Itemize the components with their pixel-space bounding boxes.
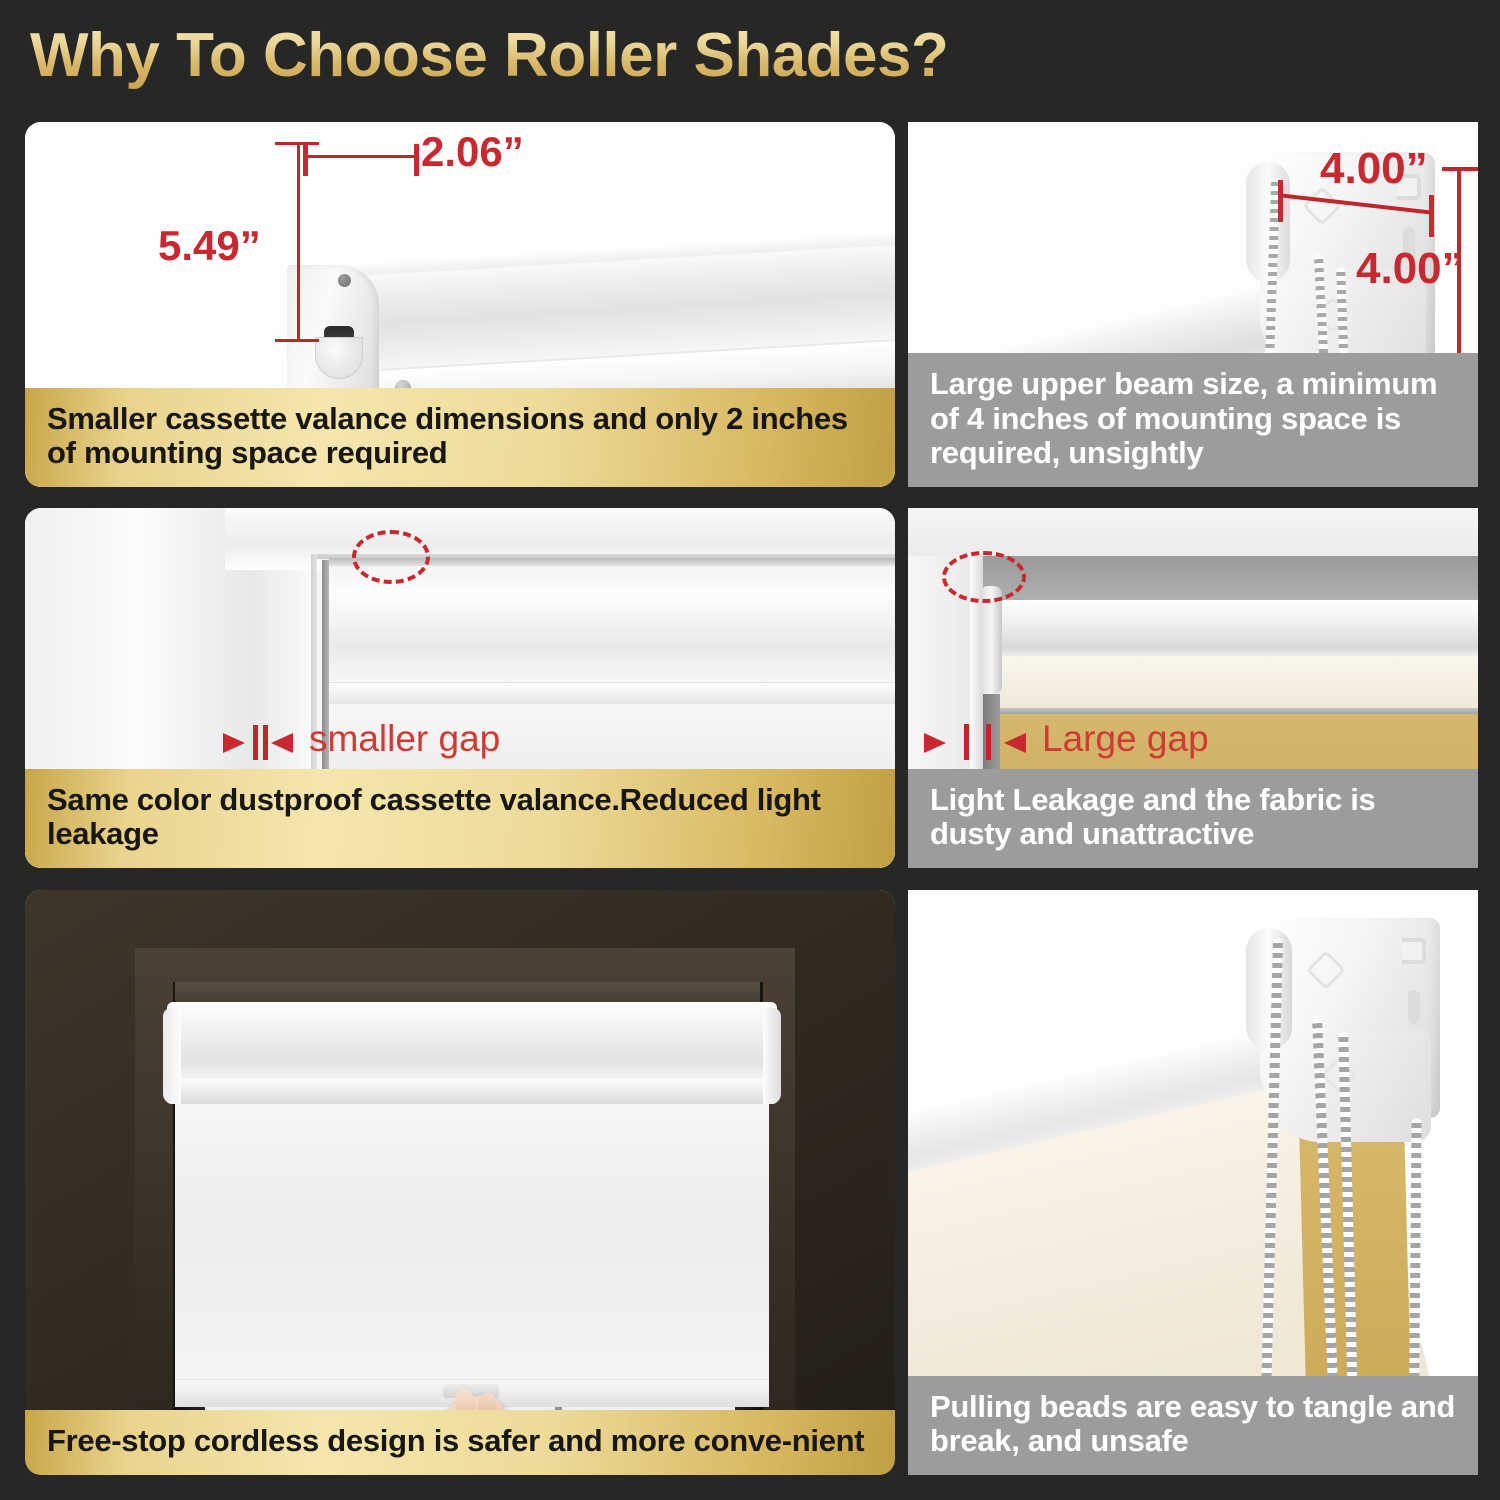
gap-marker-bar-2 bbox=[263, 725, 268, 760]
cream-fabric-band bbox=[988, 656, 1478, 712]
roller-tube bbox=[982, 600, 1478, 656]
panel-top-right: 4.00” 4.00” Large upper beam size, a min… bbox=[908, 122, 1478, 487]
shade-fabric bbox=[175, 1104, 769, 1379]
ceiling-strip bbox=[908, 508, 1478, 556]
beam-height-cap-top bbox=[1442, 167, 1478, 171]
bracket-slot-lower bbox=[1408, 990, 1420, 1024]
cordless-window-scene-photo bbox=[25, 890, 895, 1475]
panel-bottom-left: Free-stop cordless design is safer and m… bbox=[25, 890, 895, 1475]
caption-mid-left: Same color dustproof cassette valance.Re… bbox=[25, 769, 895, 868]
gap-arrow-pointing-left bbox=[1004, 733, 1026, 753]
height-dimension-label: 5.49” bbox=[158, 222, 261, 270]
roller-end-disc bbox=[1246, 928, 1292, 1050]
cassette-valance bbox=[167, 1002, 777, 1084]
gap-highlight-circle bbox=[942, 551, 1026, 603]
width-dimension-label: 2.06” bbox=[421, 128, 524, 176]
upper-recess-shadow bbox=[982, 556, 1478, 602]
page-title: Why To Choose Roller Shades? bbox=[30, 20, 948, 91]
valance-bottom-rail bbox=[329, 682, 895, 704]
gap-marker-bar bbox=[964, 724, 969, 760]
gap-arrow-pointing-right bbox=[924, 733, 946, 753]
gap-marker-bar bbox=[253, 725, 258, 760]
caption-top-left: Smaller cassette valance dimensions and … bbox=[25, 388, 895, 487]
height-dim-cap-top bbox=[275, 142, 319, 145]
panel-top-left: 2.06” 5.49” Smaller cassette valance dim… bbox=[25, 122, 895, 487]
height-dim-cap-bottom bbox=[275, 339, 319, 342]
caption-bottom-right: Pulling beads are easy to tangle and bre… bbox=[908, 1376, 1478, 1475]
panel-bottom-right: Pulling beads are easy to tangle and bre… bbox=[908, 890, 1478, 1475]
panel-mid-right: Large gap Light Leakage and the fabric i… bbox=[908, 508, 1478, 868]
caption-top-right: Large upper beam size, a minimum of 4 in… bbox=[908, 353, 1478, 487]
valance-end-cap-left bbox=[163, 1008, 181, 1104]
caption-bottom-left: Free-stop cordless design is safer and m… bbox=[25, 1410, 895, 1475]
beam-width-tick-right bbox=[1429, 195, 1434, 237]
end-cap-screw-upper bbox=[338, 274, 351, 287]
bracket-slot-upper bbox=[1402, 938, 1426, 964]
valance-front-panel bbox=[329, 564, 895, 682]
beam-width-label: 4.00” bbox=[1320, 144, 1428, 194]
valance-end-cap-right bbox=[763, 1008, 781, 1104]
large-gap-label: Large gap bbox=[1042, 718, 1209, 760]
width-dim-tick-left bbox=[303, 144, 308, 176]
beam-width-tick-left bbox=[1278, 180, 1283, 222]
gap-highlight-circle bbox=[352, 530, 430, 584]
valance-lip bbox=[167, 1078, 777, 1104]
smaller-gap-label: smaller gap bbox=[309, 718, 500, 760]
gap-marker-bar-2 bbox=[986, 724, 991, 760]
height-dim-line-2 bbox=[297, 142, 300, 342]
width-dim-tick-right bbox=[414, 144, 419, 176]
beam-height-label: 4.00” bbox=[1356, 244, 1464, 294]
gap-arrow-pointing-left bbox=[271, 733, 293, 753]
caption-mid-right: Light Leakage and the fabric is dusty an… bbox=[908, 769, 1478, 868]
gap-arrow-pointing-right bbox=[223, 733, 245, 753]
panel-mid-left: smaller gap Same color dustproof cassett… bbox=[25, 508, 895, 868]
width-dim-line bbox=[303, 155, 419, 158]
